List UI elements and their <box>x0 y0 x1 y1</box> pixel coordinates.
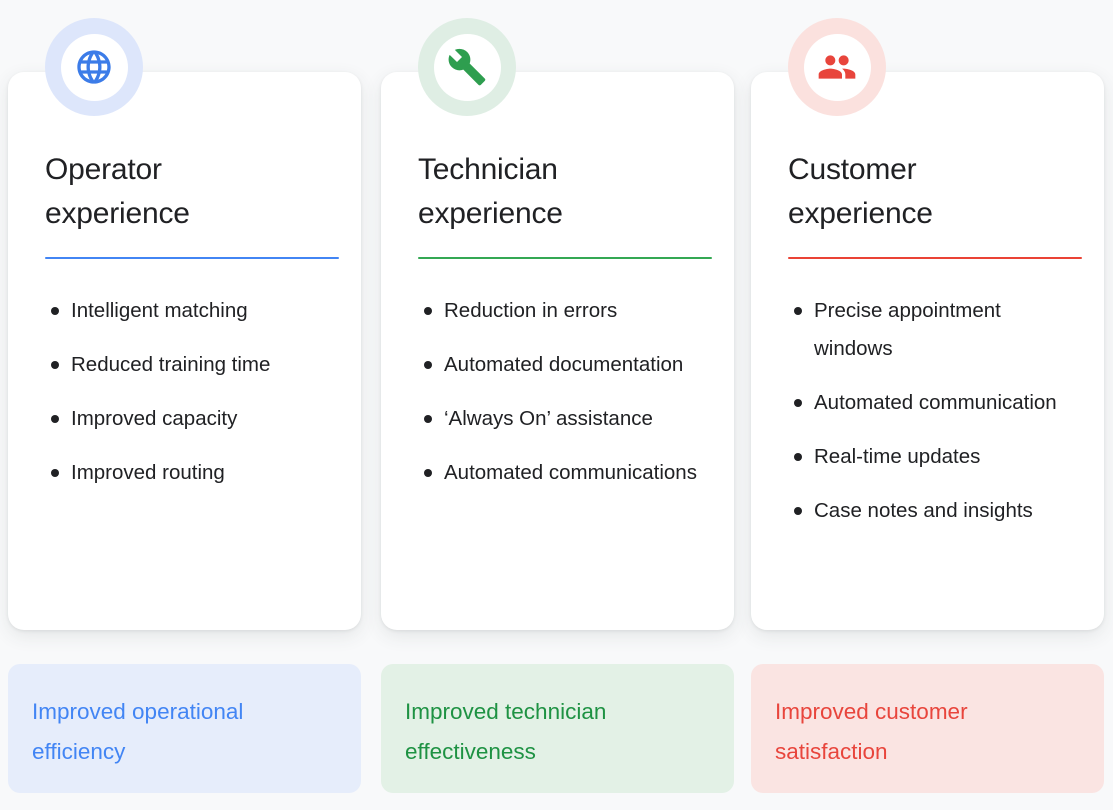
card-customer: Customer experience Precise appointment … <box>751 72 1104 630</box>
outcome-text-customer: Improved customer satisfaction <box>775 692 1080 772</box>
card-divider-technician <box>418 257 712 259</box>
list-item: Reduced training time <box>45 346 339 384</box>
outcome-banner-operator: Improved operational efficiency <box>8 664 361 793</box>
wrench-icon <box>447 47 487 87</box>
list-item: ‘Always On’ assistance <box>418 400 712 438</box>
people-icon <box>817 47 857 87</box>
list-item: Automated communication <box>788 384 1082 422</box>
badge-customer <box>788 18 886 116</box>
outcome-banner-customer: Improved customer satisfaction <box>751 664 1104 793</box>
card-title-operator: Operator experience <box>45 148 339 236</box>
badge-inner <box>804 34 871 101</box>
list-item: Improved routing <box>45 454 339 492</box>
outcome-text-operator: Improved operational efficiency <box>32 692 337 772</box>
feature-list-operator: Intelligent matching Reduced training ti… <box>45 292 339 492</box>
list-item: Intelligent matching <box>45 292 339 330</box>
feature-list-technician: Reduction in errors Automated documentat… <box>418 292 712 492</box>
badge-inner <box>434 34 501 101</box>
card-body-technician: Technician experience Reduction in error… <box>381 72 734 508</box>
card-title-customer: Customer experience <box>788 148 1082 236</box>
list-item: Reduction in errors <box>418 292 712 330</box>
card-operator: Operator experience Intelligent matching… <box>8 72 361 630</box>
badge-inner <box>61 34 128 101</box>
feature-list-customer: Precise appointment windows Automated co… <box>788 292 1082 530</box>
column-technician: Technician experience Reduction in error… <box>381 0 734 810</box>
card-divider-operator <box>45 257 339 259</box>
badge-technician <box>418 18 516 116</box>
card-divider-customer <box>788 257 1082 259</box>
column-customer: Customer experience Precise appointment … <box>751 0 1104 810</box>
column-operator: Operator experience Intelligent matching… <box>8 0 361 810</box>
card-title-technician: Technician experience <box>418 148 712 236</box>
card-technician: Technician experience Reduction in error… <box>381 72 734 630</box>
list-item: Case notes and insights <box>788 492 1082 530</box>
badge-operator <box>45 18 143 116</box>
list-item: Real-time updates <box>788 438 1082 476</box>
list-item: Precise appointment windows <box>788 292 1082 368</box>
outcome-banner-technician: Improved technician effectiveness <box>381 664 734 793</box>
experience-comparison-board: Operator experience Intelligent matching… <box>0 0 1113 810</box>
list-item: Automated documentation <box>418 346 712 384</box>
globe-icon <box>74 47 114 87</box>
card-body-customer: Customer experience Precise appointment … <box>751 72 1104 546</box>
card-body-operator: Operator experience Intelligent matching… <box>8 72 361 508</box>
list-item: Improved capacity <box>45 400 339 438</box>
outcome-text-technician: Improved technician effectiveness <box>405 692 710 772</box>
list-item: Automated communications <box>418 454 712 492</box>
